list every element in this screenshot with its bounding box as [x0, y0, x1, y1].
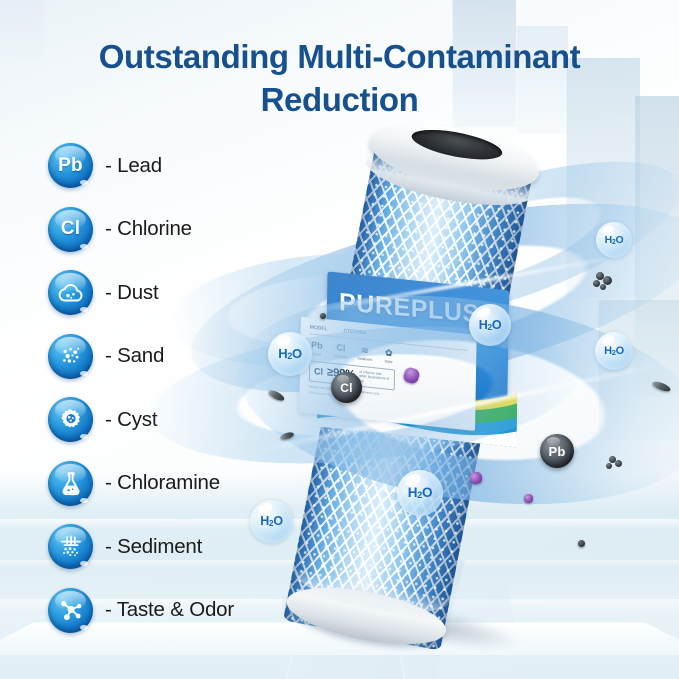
chlorine-icon-caption: Chlorine — [333, 354, 348, 360]
sediment-icon-caption: Sediment — [357, 356, 372, 362]
reduction-rate-symbol: Cl — [314, 366, 323, 377]
list-item-label: - Sand — [105, 344, 164, 368]
pb-bubble-text: Pb — [548, 444, 565, 459]
dark-particle-cluster — [606, 456, 624, 472]
list-item-label: - Taste & Odor — [105, 598, 234, 622]
h2o-bubble-3: H2O — [596, 222, 632, 258]
cl-floating-bubble: Cl — [331, 372, 362, 403]
dark-particle — [320, 313, 326, 319]
odor-icon: ✿ Odor — [381, 346, 396, 365]
list-item-label: - Lead — [105, 154, 162, 178]
list-item-label: - Dust — [105, 281, 158, 305]
cl-bubble-text: Cl — [340, 381, 352, 395]
h2o-bubble-6: H2O — [250, 500, 293, 543]
h2o-bubble-text: H2O — [479, 318, 502, 332]
pb-floating-bubble: Pb — [540, 434, 574, 468]
chloramine-flask-icon — [48, 461, 93, 506]
infographic-canvas: Outstanding Multi-Contaminant Reduction … — [0, 0, 679, 679]
list-item-chlorine[interactable]: Cl - Chlorine — [48, 206, 308, 253]
h2o-bubble-1: H2O — [268, 332, 312, 376]
h2o-bubble-text: H2O — [278, 346, 302, 361]
dust-cloud-icon — [48, 270, 93, 315]
taste-odor-molecule-icon — [48, 588, 93, 633]
h2o-bubble-text: H2O — [604, 345, 624, 357]
dark-particle-cluster — [592, 272, 614, 292]
list-item-dust[interactable]: - Dust — [48, 269, 308, 316]
violet-particle — [524, 494, 533, 503]
page-title-line-1: Outstanding Multi-Contaminant — [36, 36, 643, 79]
list-item-label: - Chlorine — [105, 217, 192, 241]
h2o-bubble-2: H2O — [469, 304, 511, 346]
spec-header-right: CTO20BB — [343, 328, 366, 336]
h2o-bubble-text: H2O — [260, 514, 283, 528]
reduction-rate-description: of chlorine and other by-products of the — [359, 370, 390, 386]
odor-icon-caption: Odor — [381, 359, 396, 365]
dark-particle — [578, 540, 585, 547]
sand-grains-icon — [48, 334, 93, 379]
pb-symbol-icon: Pb — [48, 143, 93, 188]
sediment-icon: ≋ Sediment — [357, 343, 372, 362]
list-item-label: - Cyst — [105, 408, 157, 432]
sediment-icon-glyph: ≋ — [357, 343, 372, 357]
list-item-lead[interactable]: Pb - Lead — [48, 142, 308, 189]
sediment-filter-icon — [48, 524, 93, 569]
spec-header-left: MODEL — [310, 324, 328, 332]
h2o-bubble-text: H2O — [408, 485, 432, 500]
odor-icon-glyph: ✿ — [381, 346, 396, 360]
product-spec-label: MODEL CTO20BB Pb Lead Cl Chlorine ≋ Sedi… — [299, 316, 476, 430]
list-item-label: - Sediment — [105, 535, 202, 559]
chlorine-icon: Cl Chlorine — [333, 341, 348, 360]
list-item-label: - Chloramine — [105, 471, 220, 495]
h2o-bubble-text: H2O — [605, 234, 624, 246]
chlorine-icon-glyph: Cl — [333, 341, 348, 355]
h2o-bubble-5: H2O — [397, 470, 443, 516]
h2o-bubble-4: H2O — [595, 332, 633, 370]
cl-symbol-icon: Cl — [48, 207, 93, 252]
cyst-microbe-icon — [48, 397, 93, 442]
